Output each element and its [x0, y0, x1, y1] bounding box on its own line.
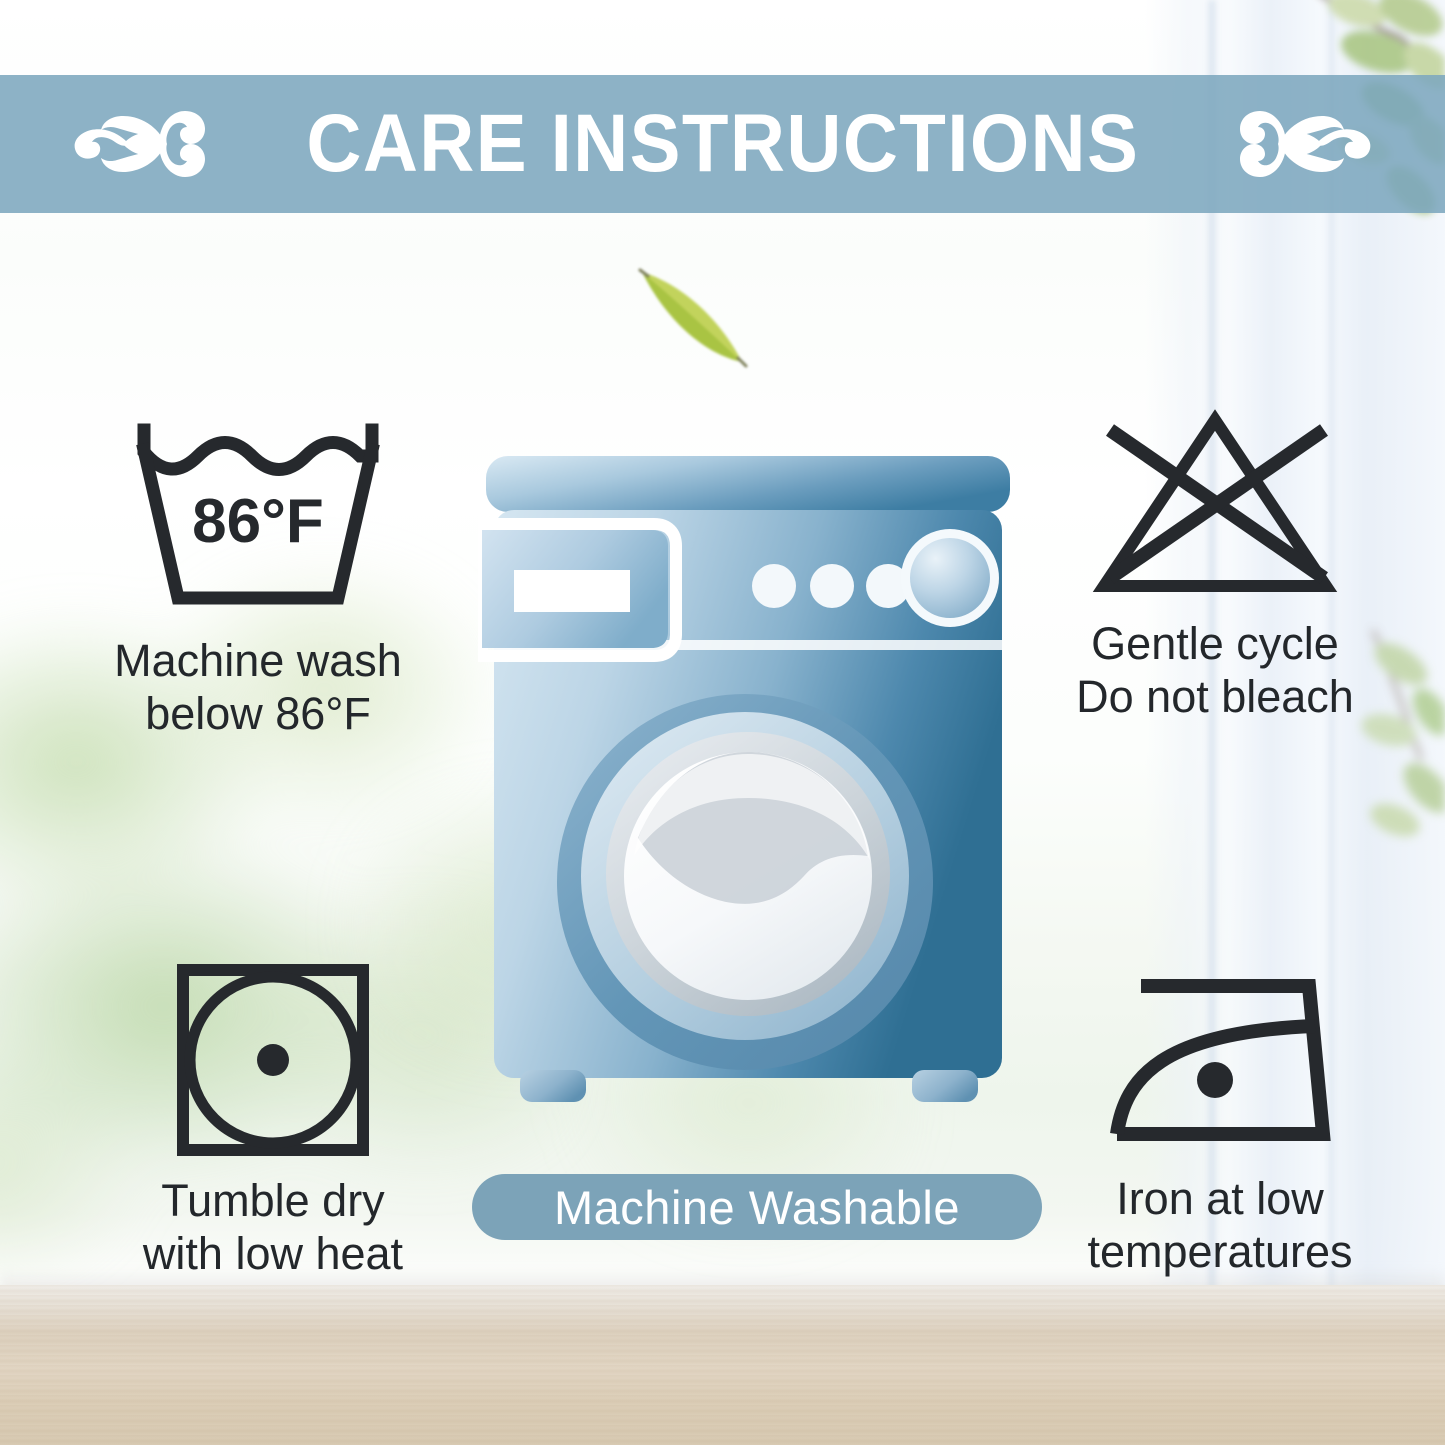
care-symbol-machine-wash: 86°F Machine wash below 86°F [38, 420, 478, 740]
washer-foot-left [520, 1070, 586, 1102]
care-symbol-tumble-dry: Tumble dry with low heat [68, 960, 478, 1280]
indicator-light-1 [752, 564, 796, 608]
care-symbol-iron: Iron at low temperatures [1010, 968, 1430, 1278]
indicator-light-2 [810, 564, 854, 608]
wash-tub-icon: 86°F [128, 420, 388, 620]
detergent-drawer [482, 524, 676, 656]
machine-washable-badge-label: Machine Washable [554, 1184, 960, 1231]
washer-top-lid [486, 456, 1010, 512]
machine-washable-badge: Machine Washable [472, 1174, 1042, 1240]
triangle-crossed-out-icon [1090, 408, 1340, 603]
drawer-handle [514, 570, 630, 612]
care-symbol-caption: Machine wash below 86°F [114, 634, 402, 740]
iron-icon [1095, 968, 1345, 1158]
fleur-de-lis-ornament-icon [67, 89, 227, 199]
washer-foot-right [912, 1070, 978, 1102]
care-symbol-caption: Gentle cycle Do not bleach [1076, 617, 1354, 723]
wooden-table-surface [0, 1285, 1445, 1445]
program-selector-knob[interactable] [901, 529, 999, 627]
header-banner: CARE INSTRUCTIONS [0, 75, 1445, 213]
tumble-dry-square-circle-icon [173, 960, 373, 1160]
wash-temperature-label: 86°F [192, 487, 324, 556]
page-title: CARE INSTRUCTIONS [306, 103, 1139, 185]
fleur-de-lis-ornament-right-icon [1218, 89, 1378, 199]
floating-leaf-icon [632, 262, 772, 372]
care-symbol-caption: Tumble dry with low heat [143, 1174, 403, 1280]
care-symbol-do-not-bleach: Gentle cycle Do not bleach [1000, 408, 1430, 723]
care-symbol-caption: Iron at low temperatures [1087, 1172, 1352, 1278]
washing-machine-illustration [478, 452, 1018, 1122]
washer-door[interactable] [557, 694, 933, 1070]
care-instructions-graphic: CARE INSTRUCTIONS 86°F Machine wash belo… [0, 0, 1445, 1445]
